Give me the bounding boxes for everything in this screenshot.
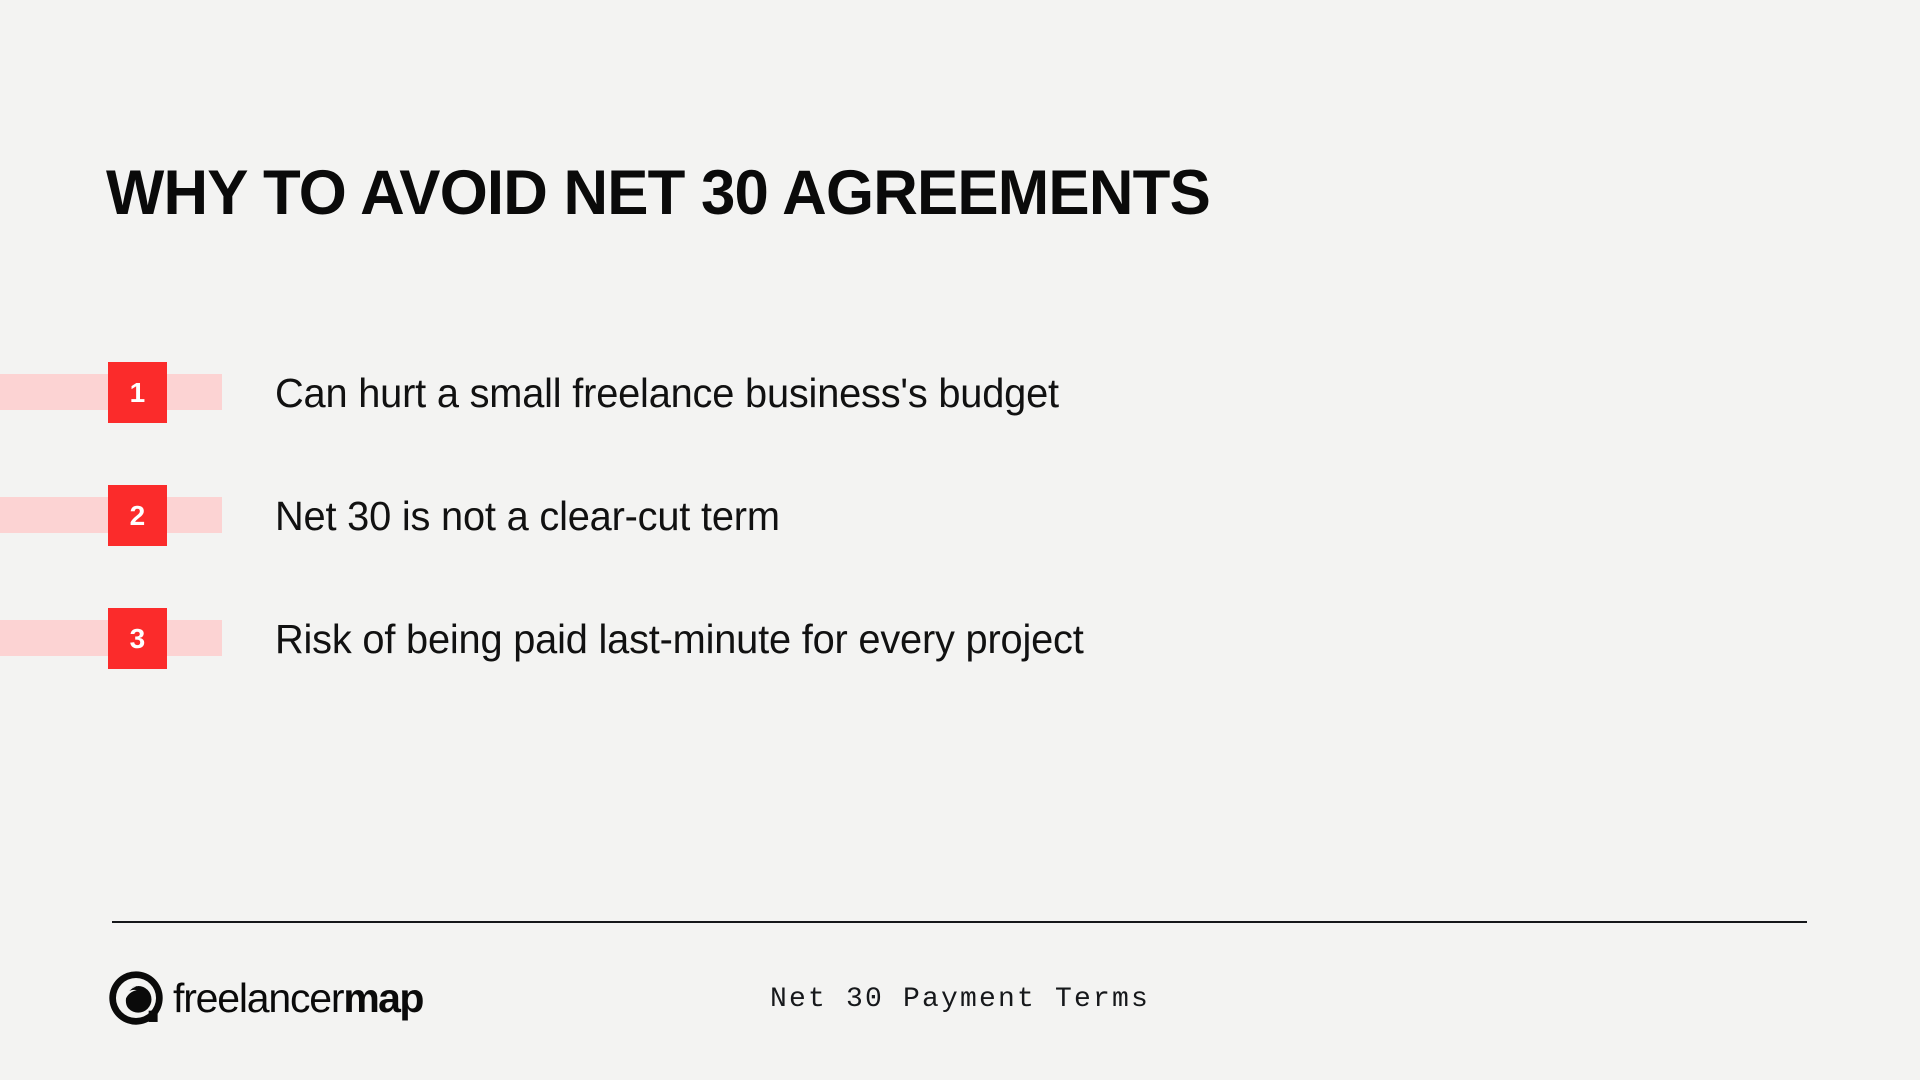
list-item-number-badge: 3 [108, 608, 167, 669]
brand-word-map: map [343, 978, 423, 1019]
list-item: 3 Risk of being paid last-minute for eve… [0, 608, 1920, 670]
page-title: WHY TO AVOID NET 30 AGREEMENTS [106, 160, 1210, 226]
list-item-number-badge: 2 [108, 485, 167, 546]
list-item-label: Net 30 is not a clear-cut term [275, 485, 780, 547]
slide-canvas: WHY TO AVOID NET 30 AGREEMENTS 1 Can hur… [0, 0, 1920, 1080]
brand-wordmark: freelancermap [173, 978, 423, 1019]
freelancermap-aperture-logo-icon [108, 970, 164, 1026]
list-item-number: 2 [130, 502, 146, 530]
list-item-label: Can hurt a small freelance business's bu… [275, 362, 1059, 424]
list-item-number: 3 [130, 625, 146, 653]
footer: Net 30 Payment Terms freelancermap [0, 960, 1920, 1060]
brand-logo: freelancermap [108, 970, 423, 1026]
list-item-label: Risk of being paid last-minute for every… [275, 608, 1084, 670]
brand-word-freelancer: freelancer [173, 978, 343, 1019]
list-item-number: 1 [130, 379, 146, 407]
list-item-number-badge: 1 [108, 362, 167, 423]
list-item: 2 Net 30 is not a clear-cut term [0, 485, 1920, 547]
footer-divider [112, 921, 1807, 923]
list-item: 1 Can hurt a small freelance business's … [0, 362, 1920, 424]
